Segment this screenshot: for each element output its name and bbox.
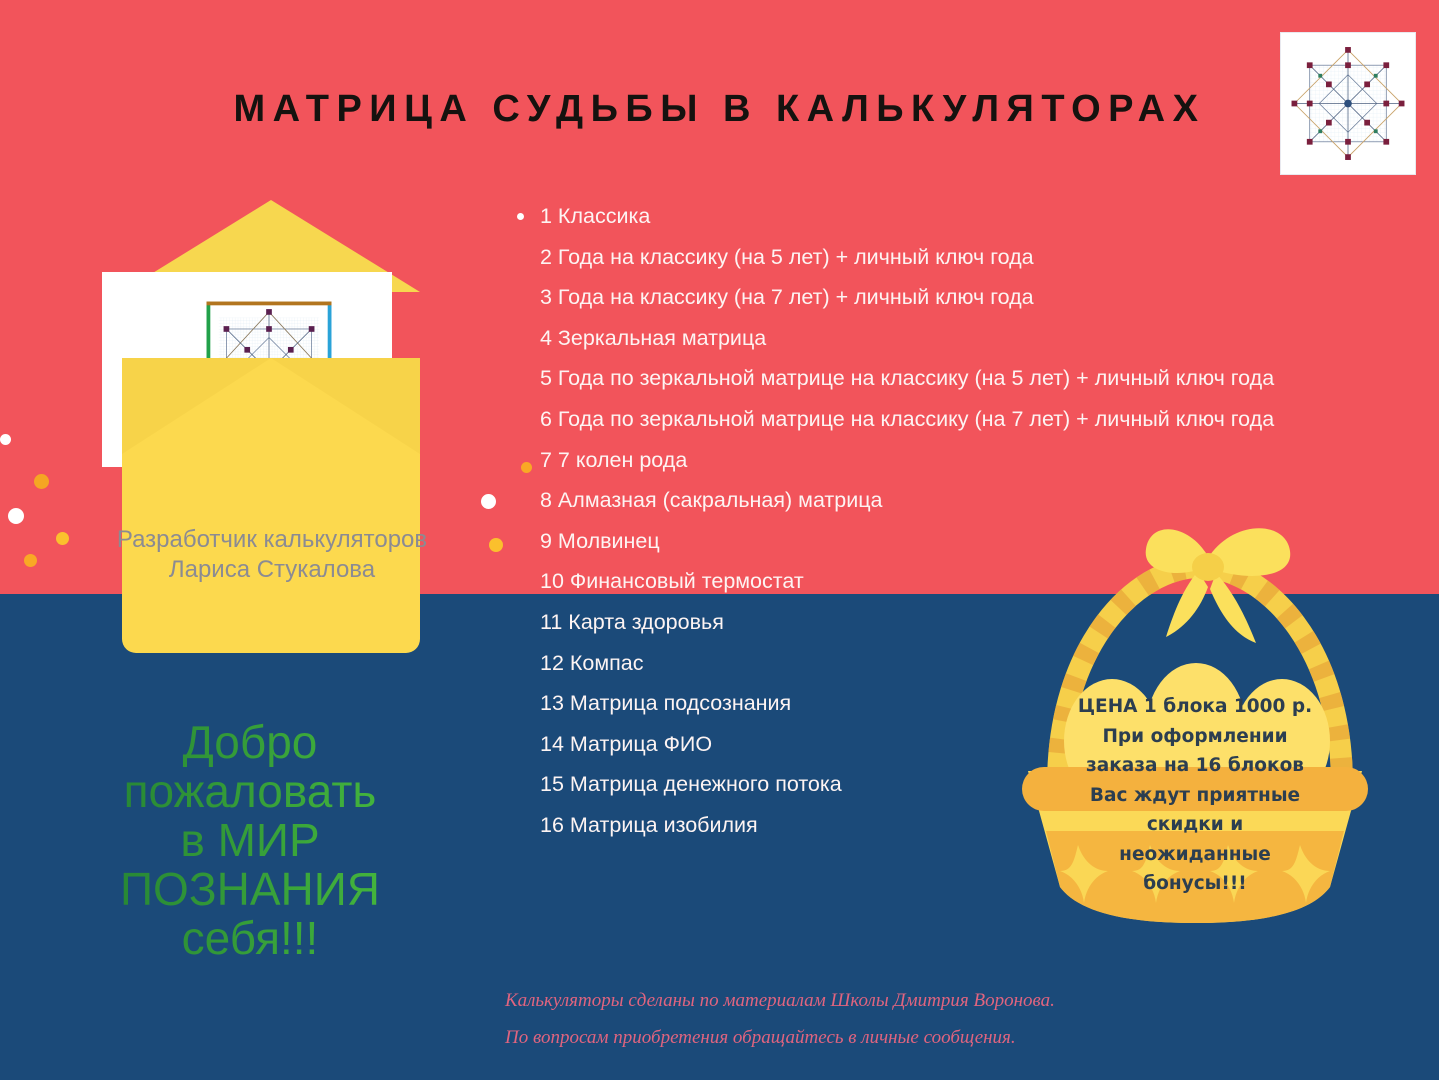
- list-item: 2 Года на классику (на 5 лет) + личный к…: [512, 237, 1332, 278]
- price-line: скидки и: [1045, 810, 1345, 840]
- confetti-dot: [8, 508, 24, 524]
- welcome-line: Добро: [40, 718, 460, 767]
- welcome-heading: Добро пожаловать в МИР ПОЗНАНИЯ себя!!!: [40, 718, 460, 963]
- envelope-icon: Разработчик калькуляторов Лариса Стукало…: [60, 200, 480, 680]
- price-line: неожиданные: [1045, 840, 1345, 870]
- footer-note: Калькуляторы сделаны по материалам Школы…: [505, 982, 1405, 1056]
- list-item: 1 Классика: [512, 196, 1332, 237]
- confetti-dot: [24, 554, 37, 567]
- price-line: заказа на 16 блоков: [1045, 751, 1345, 781]
- confetti-dot: [481, 494, 496, 509]
- welcome-line: ПОЗНАНИЯ: [40, 865, 460, 914]
- envelope-crease-left: [122, 358, 271, 454]
- confetti-dot: [489, 538, 503, 552]
- price-line: бонусы!!!: [1045, 869, 1345, 899]
- footer-line: По вопросам приобретения обращайтесь в л…: [505, 1019, 1405, 1056]
- list-item: 4 Зеркальная матрица: [512, 318, 1332, 359]
- list-item: 3 Года на классику (на 7 лет) + личный к…: [512, 277, 1332, 318]
- developer-line: Лариса Стукалова: [169, 556, 375, 583]
- envelope-crease-right: [271, 358, 420, 454]
- matrix-of-destiny-diagram-icon: [1280, 32, 1416, 175]
- footer-line: Калькуляторы сделаны по материалам Школы…: [505, 982, 1405, 1019]
- list-item: 6 Года по зеркальной матрице на классику…: [512, 399, 1340, 440]
- price-line: Вас ждут приятные: [1045, 781, 1345, 811]
- page-title: МАТРИЦА СУДЬБЫ В КАЛЬКУЛЯТОРАХ: [0, 88, 1439, 131]
- price-offer-text: ЦЕНА 1 блока 1000 р. При оформлении зака…: [1045, 692, 1345, 899]
- welcome-line: пожаловать: [40, 767, 460, 816]
- price-line: При оформлении: [1045, 722, 1345, 752]
- price-line: ЦЕНА 1 блока 1000 р.: [1045, 692, 1345, 722]
- confetti-dot: [34, 474, 49, 489]
- developer-credit: Разработчик калькуляторов Лариса Стукало…: [102, 525, 442, 585]
- confetti-dot: [0, 434, 11, 445]
- list-item: 7 7 колен рода: [512, 440, 1332, 481]
- poster-canvas: МАТРИЦА СУДЬБЫ В КАЛЬКУЛЯТОРАХ: [0, 0, 1439, 1080]
- welcome-line: себя!!!: [40, 914, 460, 963]
- developer-line: Разработчик: [117, 526, 257, 553]
- welcome-line: в МИР: [40, 816, 460, 865]
- developer-line: калькуляторов: [264, 526, 428, 553]
- list-item: 5 Года по зеркальной матрице на классику…: [512, 358, 1340, 399]
